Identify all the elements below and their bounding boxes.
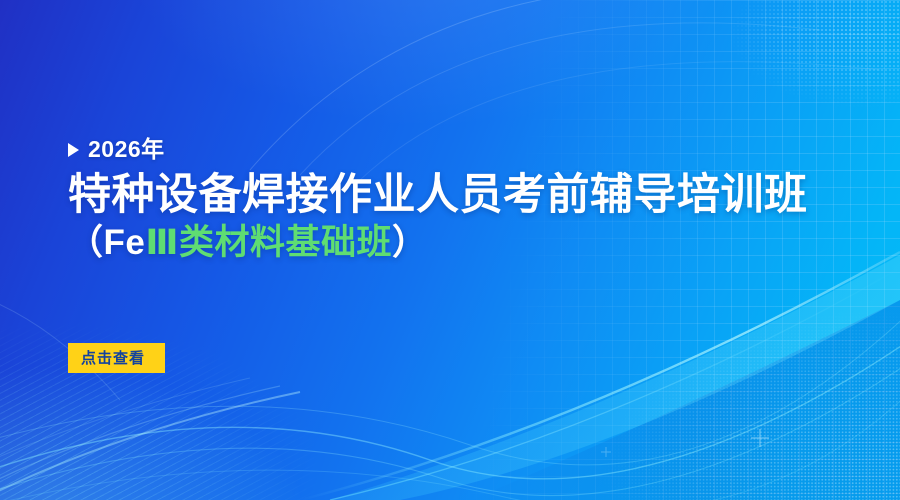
banner-text-block: 2026年 特种设备焊接作业人员考前辅导培训班 （FeⅢ类材料基础班） — [68, 138, 858, 264]
view-details-label: 点击查看 — [81, 351, 145, 366]
promo-banner: 2026年 特种设备焊接作业人员考前辅导培训班 （FeⅢ类材料基础班） 点击查看 — [0, 0, 900, 500]
subtitle-open-paren: （ — [68, 223, 104, 262]
subtitle-accent: Ⅲ类材料基础班 — [145, 223, 392, 262]
banner-subtitle: （FeⅢ类材料基础班） — [68, 222, 858, 264]
play-triangle-icon — [68, 143, 79, 157]
banner-title: 特种设备焊接作业人员考前辅导培训班 — [68, 171, 858, 220]
view-details-button[interactable]: 点击查看 — [68, 343, 165, 373]
subtitle-close-paren: ） — [392, 223, 428, 262]
banner-eyebrow: 2026年 — [68, 138, 858, 161]
subtitle-prefix: Fe — [104, 223, 146, 262]
banner-eyebrow-label: 2026年 — [88, 138, 165, 161]
